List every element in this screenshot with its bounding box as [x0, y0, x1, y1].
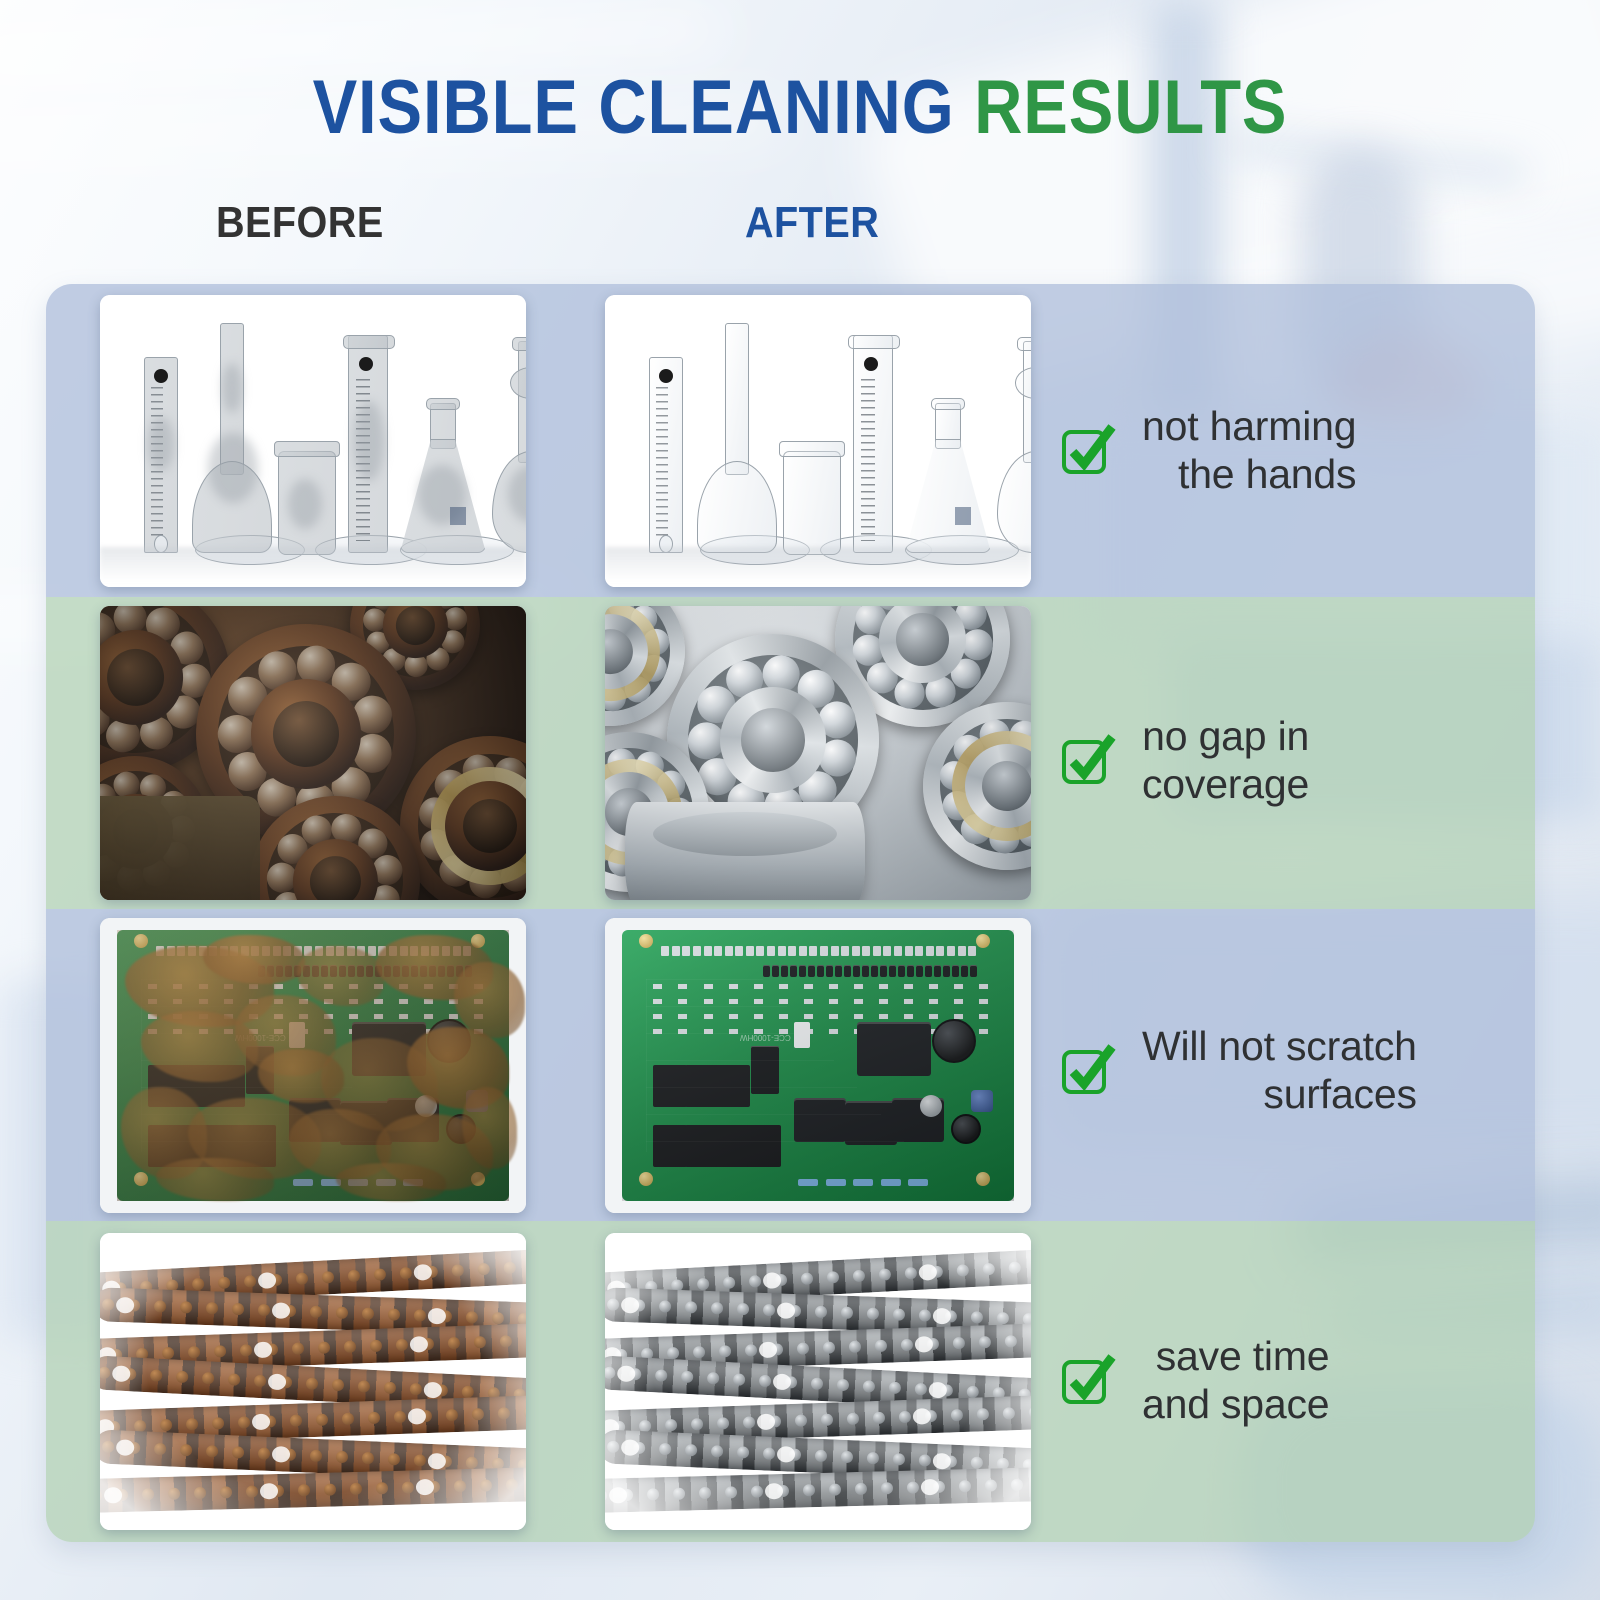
feature-item-4: save time and space [1060, 1332, 1329, 1429]
after-image-chain [605, 1233, 1031, 1530]
page-title-green: RESULTS [974, 65, 1287, 150]
feature-label-1: not harming the hands [1142, 402, 1356, 499]
feature-item-1: not harming the hands [1060, 402, 1356, 499]
before-image-circuit-board: CCE-1000HW [100, 918, 526, 1213]
column-header-before: BEFORE [216, 198, 384, 248]
feature-item-2: no gap in coverage [1060, 712, 1309, 809]
after-image-bearings [605, 606, 1031, 900]
check-square-icon [1060, 1352, 1116, 1408]
feature-label-3: Will not scratch surfaces [1142, 1022, 1417, 1119]
before-image-chain [100, 1233, 526, 1530]
feature-label-2: no gap in coverage [1142, 712, 1309, 809]
infographic-canvas: VISIBLE CLEANING RESULTS BEFORE AFTER [0, 0, 1600, 1600]
row-bearings [46, 597, 1535, 909]
before-image-glassware [100, 295, 526, 587]
check-square-icon [1060, 1042, 1116, 1098]
feature-label-4: save time and space [1142, 1332, 1329, 1429]
after-image-glassware [605, 295, 1031, 587]
page-title: VISIBLE CLEANING RESULTS [96, 64, 1504, 151]
page-title-blue: VISIBLE CLEANING [313, 65, 975, 150]
after-image-circuit-board: CCE-1000HW [605, 918, 1031, 1213]
check-square-icon [1060, 732, 1116, 788]
feature-item-3: Will not scratch surfaces [1060, 1022, 1417, 1119]
before-image-bearings [100, 606, 526, 900]
check-square-icon [1060, 422, 1116, 478]
column-header-after: AFTER [745, 198, 879, 248]
